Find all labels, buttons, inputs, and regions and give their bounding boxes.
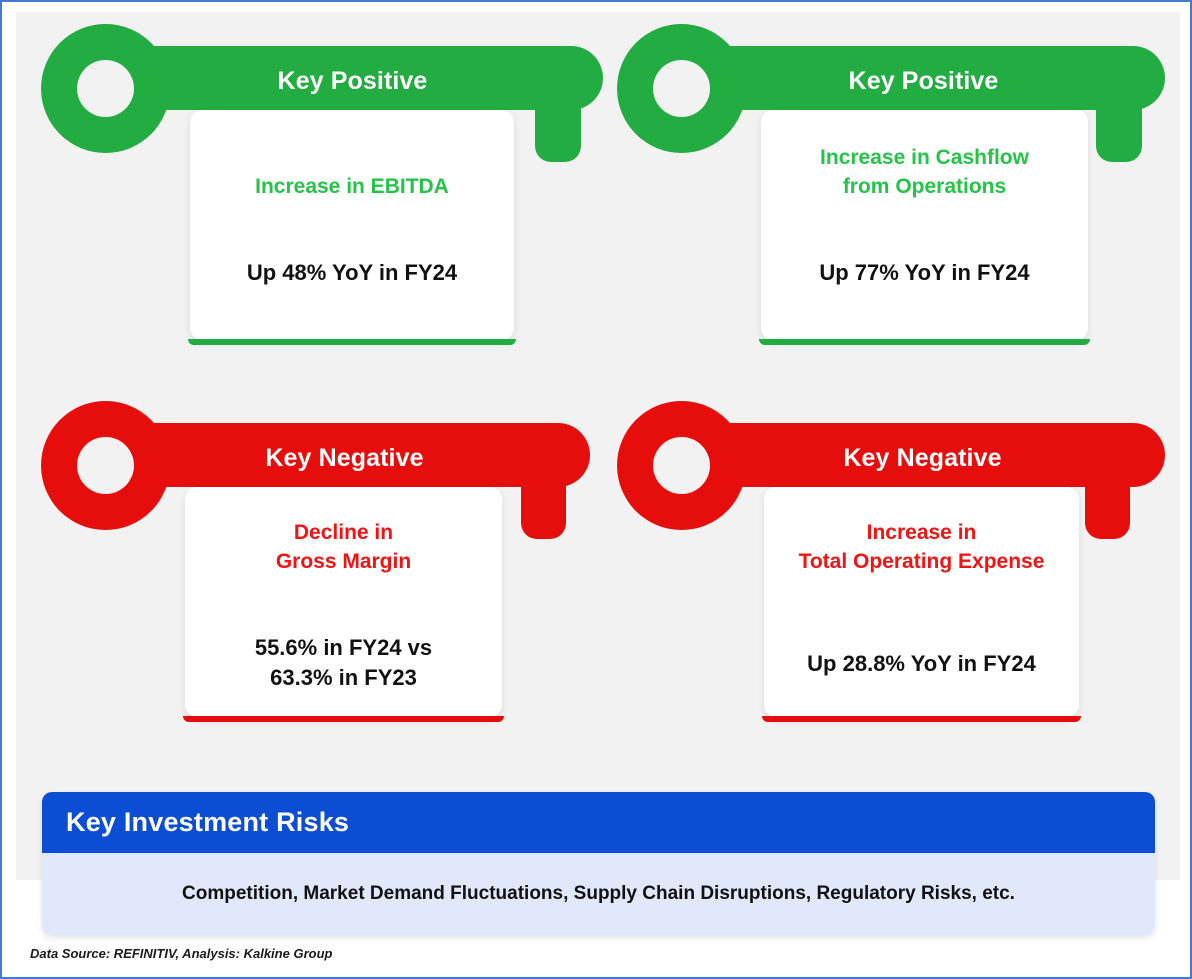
key-tooth-icon	[535, 102, 581, 162]
risk-panel-header: Key Investment Risks	[42, 792, 1155, 853]
key-badge-label-2: Key Positive	[761, 67, 1086, 96]
card-accent-bar-4	[762, 716, 1081, 722]
card-accent-bar-1	[188, 339, 516, 345]
info-card-1[interactable]: Increase in EBITDA Up 48% YoY in FY24	[190, 110, 514, 340]
key-head-icon	[617, 24, 746, 153]
key-head-hole	[77, 60, 134, 117]
card-stat-3-line1: 55.6% in FY24 vs	[185, 633, 502, 663]
key-head-icon	[41, 401, 170, 530]
data-source-note: Data Source: REFINITIV, Analysis: Kalkin…	[30, 946, 332, 961]
key-badge-label-1: Key Positive	[190, 67, 515, 96]
info-card-4[interactable]: Increase in Total Operating Expense Up 2…	[764, 487, 1079, 717]
infographic-page: Key Positive Increase in EBITDA Up 48% Y…	[0, 0, 1192, 979]
key-badge-label-4: Key Negative	[760, 444, 1085, 473]
card-stat-4: Up 28.8% YoY in FY24	[764, 649, 1079, 679]
card-title-4-line2: Total Operating Expense	[764, 547, 1079, 576]
card-stat-2: Up 77% YoY in FY24	[761, 258, 1088, 288]
risk-panel-body: Competition, Market Demand Fluctuations,…	[42, 853, 1155, 935]
key-tooth-icon	[1096, 102, 1142, 162]
key-head-icon	[41, 24, 170, 153]
card-accent-bar-2	[759, 339, 1090, 345]
card-stat-1: Up 48% YoY in FY24	[190, 258, 514, 288]
key-tooth-icon	[1085, 479, 1130, 539]
key-head-hole	[653, 60, 710, 117]
info-card-2[interactable]: Increase in Cashflow from Operations Up …	[761, 110, 1088, 340]
key-head-icon	[617, 401, 746, 530]
card-title-3-line1: Decline in	[185, 518, 502, 547]
card-title-2-line2: from Operations	[761, 172, 1088, 201]
info-card-3[interactable]: Decline in Gross Margin 55.6% in FY24 vs…	[185, 487, 502, 717]
key-investment-risks-panel: Key Investment Risks Competition, Market…	[42, 792, 1155, 935]
card-accent-bar-3	[183, 716, 504, 722]
card-stat-3-line2: 63.3% in FY23	[185, 663, 502, 693]
card-title-1: Increase in EBITDA	[190, 172, 514, 201]
card-title-3-line2: Gross Margin	[185, 547, 502, 576]
key-head-hole	[77, 437, 134, 494]
key-tooth-icon	[521, 479, 566, 539]
card-title-4-line1: Increase in	[764, 518, 1079, 547]
key-head-hole	[653, 437, 710, 494]
key-badge-label-3: Key Negative	[182, 444, 507, 473]
card-title-2-line1: Increase in Cashflow	[761, 143, 1088, 172]
